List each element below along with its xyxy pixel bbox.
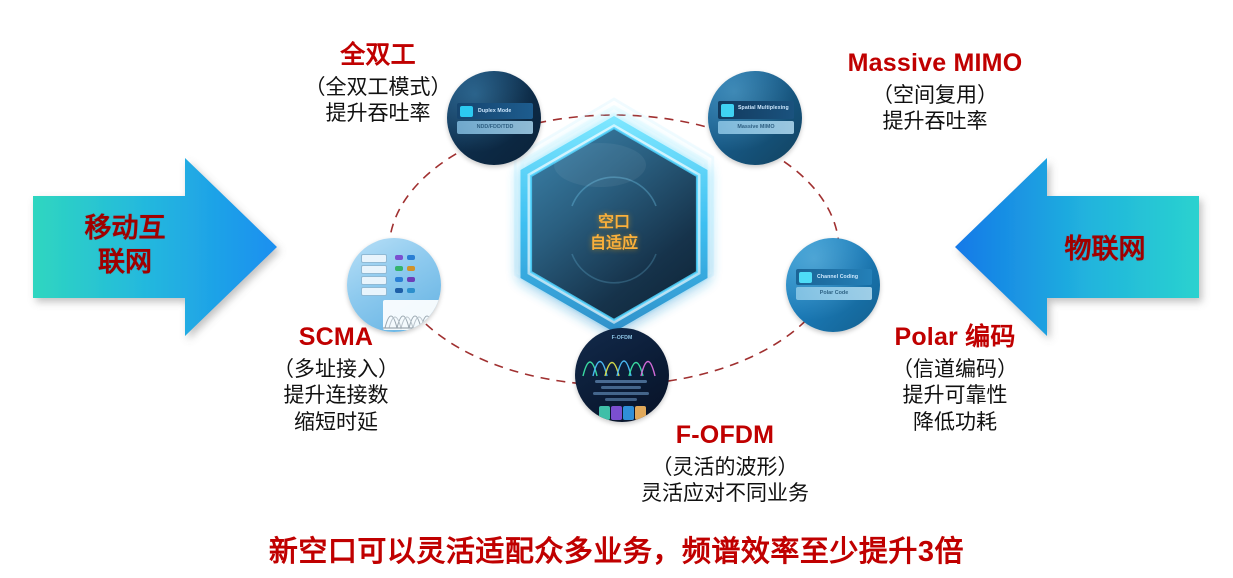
node-label-polar: Polar 编码 （信道编码） 提升可靠性 降低功耗: [845, 322, 1065, 435]
left-arrow-line-2: 联网: [55, 246, 195, 280]
scma-sub-1: （多址接入）: [236, 357, 436, 383]
mimo-bar-label: Massive MIMO: [718, 124, 794, 130]
f-ofdm-sub-1: （灵活的波形）: [605, 455, 845, 481]
f-ofdm-waveforms: [581, 344, 663, 378]
mimo-chip-label: Spatial Multiplexing: [738, 106, 792, 112]
polar-chip-label: Channel Coding: [817, 274, 858, 280]
f-ofdm-tile-3: [635, 406, 646, 420]
f-ofdm-photo[interactable]: F-OFDM: [575, 328, 669, 422]
polar-code-photo[interactable]: Channel Coding Polar Code: [786, 238, 880, 332]
f-ofdm-title-label: F-OFDM: [605, 420, 845, 451]
slide-canvas: 空口 自适应 移动互 联网 物联网 Duplex Mode NDD/FDD/TD…: [0, 0, 1233, 578]
bottom-headline: 新空口可以灵活适配众多业务，频谱效率至少提升3倍: [0, 528, 1233, 570]
f-ofdm-tile-4: [599, 406, 610, 420]
polar-bar-label: Polar Code: [796, 290, 872, 296]
right-arrow-line-1: 物联网: [1035, 233, 1175, 267]
polar-sub: （信道编码） 提升可靠性 降低功耗: [845, 357, 1065, 436]
scma-sub: （多址接入） 提升连接数 缩短时延: [236, 357, 436, 436]
scma-dot-4: [407, 266, 415, 271]
hex-line-1: 空口: [534, 213, 694, 234]
left-arrow-label: 移动互 联网: [55, 212, 195, 280]
massive-mimo-photo[interactable]: Spatial Multiplexing Massive MIMO: [708, 71, 802, 165]
polar-title: Polar 编码: [845, 322, 1065, 353]
full-duplex-sub-2: 提升吞吐率: [268, 101, 488, 127]
scma-dot-7: [395, 288, 403, 293]
scma-sub-2: 提升连接数: [236, 383, 436, 409]
f-ofdm-tile-2: [623, 406, 634, 420]
scma-block-1: [361, 254, 387, 263]
right-arrow-label: 物联网: [1035, 233, 1175, 267]
full-duplex-title: 全双工: [268, 40, 488, 71]
scma-dot-3: [395, 266, 403, 271]
polar-sub-2: 提升可靠性: [845, 383, 1065, 409]
massive-mimo-sub: （空间复用） 提升吞吐率: [815, 83, 1055, 135]
polar-sub-1: （信道编码）: [845, 357, 1065, 383]
scma-block-4: [361, 287, 387, 296]
scma-block-3: [361, 276, 387, 285]
scma-dot-8: [407, 288, 415, 293]
mimo-chip-icon: [721, 104, 734, 117]
massive-mimo-sub-1: （空间复用）: [815, 83, 1055, 109]
massive-mimo-title: Massive MIMO: [815, 48, 1055, 79]
node-label-scma: SCMA （多址接入） 提升连接数 缩短时延: [236, 322, 436, 435]
f-ofdm-sub: （灵活的波形） 灵活应对不同业务: [605, 455, 845, 507]
node-label-f-ofdm: F-OFDM （灵活的波形） 灵活应对不同业务: [605, 420, 845, 507]
polar-sub-3: 降低功耗: [845, 410, 1065, 436]
scma-sub-3: 缩短时延: [236, 410, 436, 436]
f-ofdm-sub-2: 灵活应对不同业务: [605, 481, 845, 507]
scma-dot-5: [395, 277, 403, 282]
f-ofdm-tile-1: [611, 406, 622, 420]
node-label-full-duplex: 全双工 （全双工模式） 提升吞吐率: [268, 40, 488, 127]
scma-dot-6: [407, 277, 415, 282]
scma-dot-2: [407, 255, 415, 260]
full-duplex-sub-1: （全双工模式）: [268, 75, 488, 101]
node-label-massive-mimo: Massive MIMO （空间复用） 提升吞吐率: [815, 48, 1055, 135]
hex-line-2: 自适应: [534, 234, 694, 255]
hex-center-text: 空口 自适应: [534, 213, 694, 255]
f-ofdm-textline-4: [605, 398, 637, 401]
scma-photo[interactable]: [347, 238, 441, 332]
massive-mimo-sub-2: 提升吞吐率: [815, 109, 1055, 135]
f-ofdm-title: F-OFDM: [575, 335, 669, 341]
f-ofdm-textline-3: [593, 392, 649, 395]
scma-block-2: [361, 265, 387, 274]
full-duplex-sub: （全双工模式） 提升吞吐率: [268, 75, 488, 127]
f-ofdm-textline-2: [601, 386, 641, 389]
polar-chip-icon: [799, 272, 812, 283]
f-ofdm-textline-1: [595, 380, 647, 383]
left-arrow-line-1: 移动互: [55, 212, 195, 246]
scma-title: SCMA: [236, 322, 436, 353]
scma-dot-1: [395, 255, 403, 260]
